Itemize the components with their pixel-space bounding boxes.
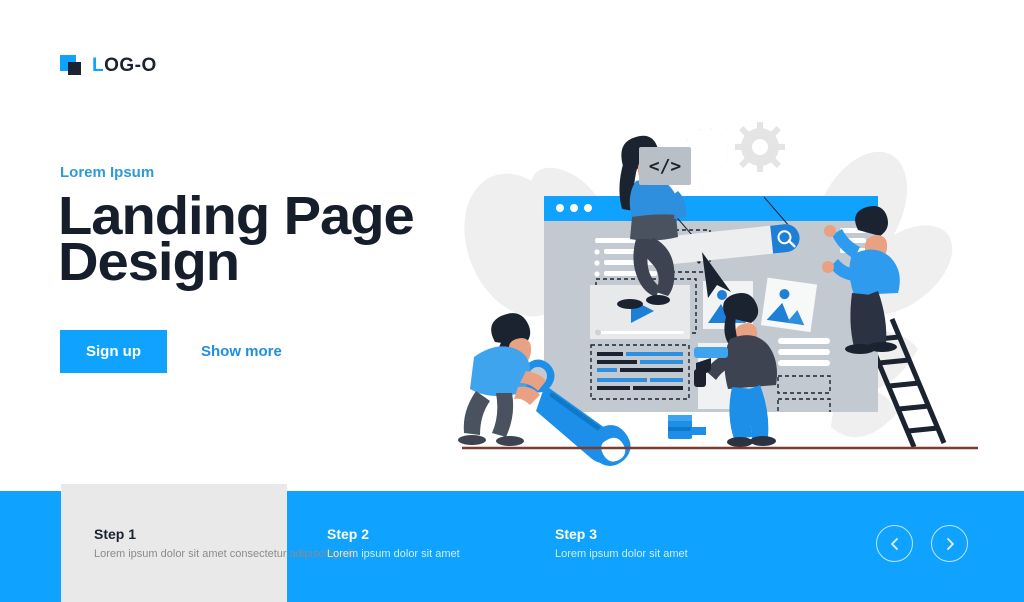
step-1-title: Step 1 xyxy=(94,525,356,543)
hero-eyebrow: Lorem Ipsum xyxy=(60,164,154,181)
svg-text:</>: </> xyxy=(649,156,682,177)
step-3-desc: Lorem ipsum dolor sit amet xyxy=(555,547,688,563)
step-2-title: Step 2 xyxy=(327,525,460,543)
hero-actions: Sign up Show more xyxy=(60,330,282,373)
carousel-next-button[interactable] xyxy=(931,525,968,562)
page-title: Landing Page Design xyxy=(58,193,505,286)
hero-illustration: </> xyxy=(440,95,1000,470)
headline-line-2: Design xyxy=(58,239,505,285)
step-3-title: Step 3 xyxy=(555,525,688,543)
chevron-left-icon xyxy=(889,537,901,551)
video-player xyxy=(590,279,696,339)
step-2-desc: Lorem ipsum dolor sit amet xyxy=(327,547,460,563)
logo-text-rest: OG-O xyxy=(104,55,157,76)
step-1-desc: Lorem ipsum dolor sit amet consectetur a… xyxy=(94,547,356,563)
carousel-controls xyxy=(876,525,968,562)
show-more-button[interactable]: Show more xyxy=(201,343,282,360)
step-item-1[interactable]: Step 1 Lorem ipsum dolor sit amet consec… xyxy=(94,525,356,563)
landing-page: LOG-O Lorem Ipsum Landing Page Design Si… xyxy=(0,0,1024,602)
logo[interactable]: LOG-O xyxy=(60,55,157,77)
chevron-right-icon xyxy=(944,537,956,551)
paint-bucket xyxy=(668,415,706,439)
browser-titlebar xyxy=(544,196,878,221)
gear-icon xyxy=(684,122,785,173)
logo-text: LOG-O xyxy=(92,55,157,77)
carousel-prev-button[interactable] xyxy=(876,525,913,562)
image-placeholder-2 xyxy=(761,278,817,332)
step-item-3[interactable]: Step 3 Lorem ipsum dolor sit amet xyxy=(555,525,688,563)
step-item-2[interactable]: Step 2 Lorem ipsum dolor sit amet xyxy=(327,525,460,563)
square-logo-icon xyxy=(60,55,82,77)
logo-text-accent: L xyxy=(92,55,104,76)
sign-up-button[interactable]: Sign up xyxy=(60,330,167,373)
